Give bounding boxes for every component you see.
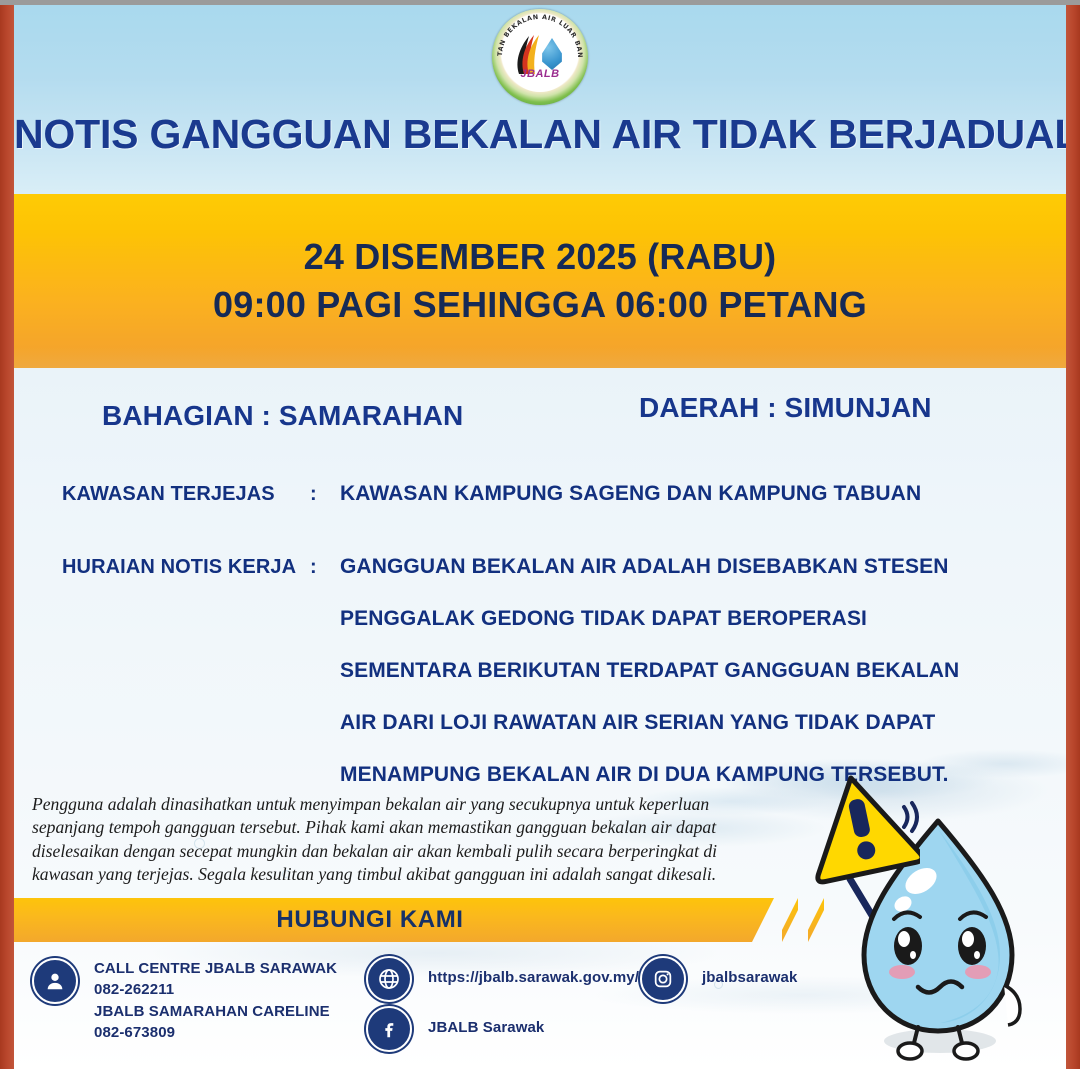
top-strip: [0, 0, 1080, 5]
huraian-line: PENGGALAK GEDONG TIDAK DAPAT BEROPERASI: [340, 608, 1036, 629]
huraian-label: HURAIAN NOTIS KERJA: [62, 556, 310, 579]
careline-phone[interactable]: 082-673809: [94, 1022, 337, 1043]
bahagian-label: BAHAGIAN : SAMARAHAN: [102, 400, 463, 432]
call-centre-name: CALL CENTRE JBALB SARAWAK: [94, 958, 337, 979]
person-icon: [32, 958, 78, 1004]
contact-list: CALL CENTRE JBALB SARAWAK 082-262211 JBA…: [14, 954, 1066, 1069]
hubungi-kami-banner: HUBUNGI KAMI: [14, 898, 1066, 942]
body-section: BAHAGIAN : SAMARAHAN DAERAH : SIMUNJAN K…: [14, 368, 1066, 1069]
kawasan-terjejas-row: KAWASAN TERJEJAS : KAWASAN KAMPUNG SAGEN…: [62, 483, 1036, 506]
contact-call-centre[interactable]: CALL CENTRE JBALB SARAWAK 082-262211 JBA…: [32, 958, 337, 1043]
kawasan-terjejas-value: KAWASAN KAMPUNG SAGENG DAN KAMPUNG TABUA…: [340, 483, 1036, 504]
banner-stripe-decor: [808, 898, 824, 942]
notice-poster: JABATAN BEKALAN AIR LUAR BANDAR SARAWAK: [0, 0, 1080, 1069]
contact-website[interactable]: https://jbalb.sarawak.gov.my/: [366, 956, 639, 1002]
kawasan-colon: :: [310, 483, 340, 506]
huraian-line: SEMENTARA BERIKUTAN TERDAPAT GANGGUAN BE…: [340, 660, 1036, 681]
warning-triangle-icon: [800, 769, 920, 889]
instagram-handle[interactable]: jbalbsarawak: [702, 956, 797, 988]
date-time-band: 24 DISEMBER 2025 (RABU) 09:00 PAGI SEHIN…: [14, 194, 1066, 368]
kawasan-terjejas-label: KAWASAN TERJEJAS: [62, 483, 310, 506]
notice-time: 09:00 PAGI SEHINGGA 06:00 PETANG: [213, 284, 867, 326]
globe-icon: [366, 956, 412, 1002]
huraian-line: GANGGUAN BEKALAN AIR ADALAH DISEBABKAN S…: [340, 556, 1036, 577]
banner-stripe-decor: [782, 898, 798, 942]
huraian-lines: GANGGUAN BEKALAN AIR ADALAH DISEBABKAN S…: [340, 556, 1036, 785]
huraian-line: AIR DARI LOJI RAWATAN AIR SERIAN YANG TI…: [340, 712, 1036, 733]
facebook-handle[interactable]: JBALB Sarawak: [428, 1006, 544, 1038]
left-border-rail: [0, 0, 14, 1069]
facebook-icon: [366, 1006, 412, 1052]
contact-instagram[interactable]: jbalbsarawak: [640, 956, 797, 1002]
instagram-icon: [640, 956, 686, 1002]
huraian-line: MENAMPUNG BEKALAN AIR DI DUA KAMPUNG TER…: [340, 764, 1036, 785]
jbalb-logo: JABATAN BEKALAN AIR LUAR BANDAR SARAWAK: [492, 9, 588, 105]
careline-name: JBALB SAMARAHAN CARELINE: [94, 1001, 337, 1022]
huraian-notis-kerja-row: HURAIAN NOTIS KERJA : GANGGUAN BEKALAN A…: [62, 556, 1036, 785]
page-title: NOTIS GANGGUAN BEKALAN AIR TIDAK BERJADU…: [14, 111, 1066, 158]
header-section: JABATAN BEKALAN AIR LUAR BANDAR SARAWAK: [14, 5, 1066, 194]
advisory-paragraph: Pengguna adalah dinasihatkan untuk menyi…: [32, 793, 777, 887]
call-centre-phone[interactable]: 082-262211: [94, 979, 337, 1000]
contact-facebook[interactable]: JBALB Sarawak: [366, 1006, 544, 1052]
website-url[interactable]: https://jbalb.sarawak.gov.my/: [428, 956, 639, 988]
hubungi-kami-label: HUBUNGI KAMI: [276, 906, 511, 934]
huraian-colon: :: [310, 556, 340, 579]
daerah-label: DAERAH : SIMUNJAN: [639, 392, 932, 424]
logo-wordmark: JBALB: [505, 68, 575, 80]
notice-date: 24 DISEMBER 2025 (RABU): [304, 236, 777, 278]
right-border-rail: [1066, 0, 1080, 1069]
